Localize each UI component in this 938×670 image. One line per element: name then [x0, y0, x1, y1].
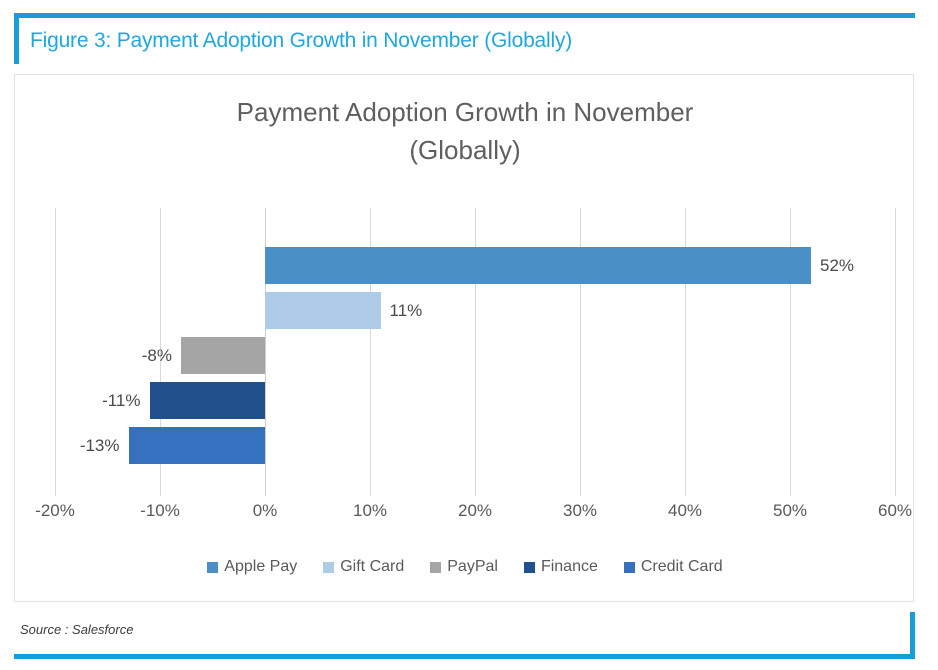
- legend-item-label: PayPal: [447, 558, 498, 576]
- chart-title: Payment Adoption Growth in November (Glo…: [15, 93, 914, 169]
- figure-right-accent-bar: [910, 612, 915, 657]
- chart-title-line-1: Payment Adoption Growth in November: [15, 93, 914, 131]
- bar-apple-pay[interactable]: [265, 247, 811, 284]
- x-axis-tick-label: 40%: [668, 501, 702, 521]
- x-axis-tick-label: 20%: [458, 501, 492, 521]
- figure-caption-accent-bar: [14, 18, 19, 64]
- legend-item-apple-pay[interactable]: Apple Pay: [207, 558, 297, 576]
- figure-top-rule: [14, 13, 915, 18]
- gridline--20%: [55, 208, 56, 496]
- x-axis-tick-label: 50%: [773, 501, 807, 521]
- legend-item-label: Apple Pay: [224, 558, 297, 576]
- legend-item-label: Credit Card: [641, 558, 723, 576]
- legend-item-label: Finance: [541, 558, 598, 576]
- legend-item-paypal[interactable]: PayPal: [430, 558, 498, 576]
- legend-swatch-icon: [323, 562, 334, 573]
- chart-legend: Apple PayGift CardPayPalFinanceCredit Ca…: [15, 558, 914, 576]
- x-axis-tick-label: 60%: [878, 501, 912, 521]
- figure-block: Figure 3: Payment Adoption Growth in Nov…: [0, 0, 938, 670]
- chart-panel: Payment Adoption Growth in November (Glo…: [14, 74, 914, 602]
- legend-swatch-icon: [624, 562, 635, 573]
- x-axis-tick-label: 10%: [353, 501, 387, 521]
- legend-swatch-icon: [524, 562, 535, 573]
- plot-area: -20%-10%0%10%20%30%40%50%60%52%11%-8%-11…: [55, 208, 895, 496]
- x-axis-tick-label: 30%: [563, 501, 597, 521]
- bar-gift-card[interactable]: [265, 292, 381, 329]
- bar-value-label: 52%: [820, 247, 854, 284]
- bar-finance[interactable]: [150, 382, 266, 419]
- x-axis-tick-label: 0%: [253, 501, 278, 521]
- x-axis-tick-label: -20%: [35, 501, 75, 521]
- figure-caption: Figure 3: Payment Adoption Growth in Nov…: [30, 26, 572, 56]
- bar-paypal[interactable]: [181, 337, 265, 374]
- bar-value-label: -11%: [102, 382, 140, 419]
- bar-credit-card[interactable]: [129, 427, 266, 464]
- legend-item-finance[interactable]: Finance: [524, 558, 598, 576]
- bar-value-label: 11%: [390, 292, 423, 329]
- bar-value-label: -13%: [80, 427, 120, 464]
- figure-bottom-rule: [14, 654, 915, 659]
- legend-swatch-icon: [430, 562, 441, 573]
- legend-item-credit-card[interactable]: Credit Card: [624, 558, 723, 576]
- gridline-60%: [895, 208, 896, 496]
- legend-swatch-icon: [207, 562, 218, 573]
- legend-item-gift-card[interactable]: Gift Card: [323, 558, 404, 576]
- x-axis-tick-label: -10%: [140, 501, 180, 521]
- bar-value-label: -8%: [142, 337, 172, 374]
- figure-source: Source : Salesforce: [20, 622, 133, 637]
- chart-title-line-2: (Globally): [15, 131, 914, 169]
- legend-item-label: Gift Card: [340, 558, 404, 576]
